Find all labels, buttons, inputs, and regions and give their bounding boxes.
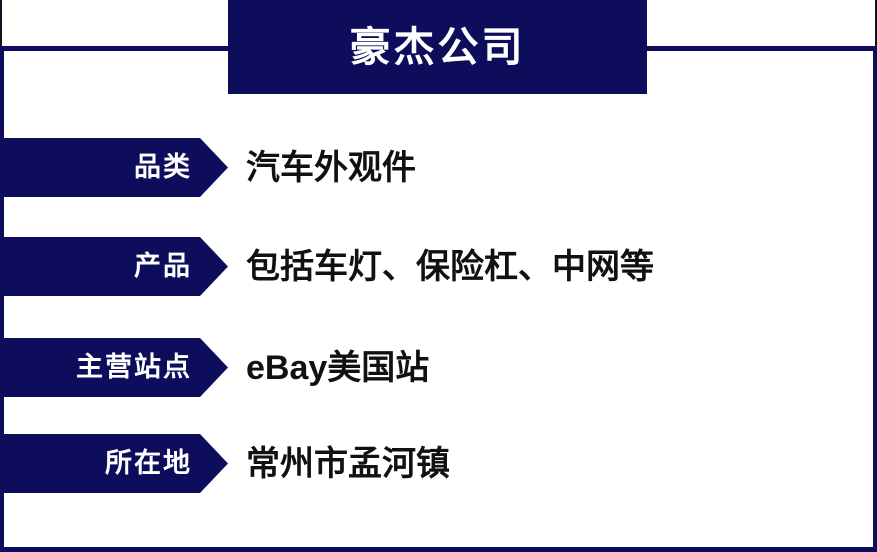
row-value-product: 包括车灯、保险杠、中网等 <box>246 237 654 296</box>
row-label-text: 品类 <box>134 154 192 181</box>
frame-top-right-rule <box>647 46 877 51</box>
row-value-text: 常州市孟河镇 <box>246 447 450 481</box>
title-banner: 豪杰公司 <box>228 0 647 94</box>
row-label-chevron-location: 所在地 <box>0 434 228 493</box>
row-value-location: 常州市孟河镇 <box>246 434 450 493</box>
row-value-main-site: eBay美国站 <box>246 338 429 397</box>
detail-row: 产品 包括车灯、保险杠、中网等 <box>0 237 877 296</box>
frame-top-left-rule <box>0 46 228 51</box>
row-label-text: 所在地 <box>105 450 192 477</box>
company-profile-infographic: 豪杰公司 品类 汽车外观件 产品 包括车灯、保险杠、中网等 主营站点 eBay美… <box>0 0 877 552</box>
row-label-text: 主营站点 <box>76 354 192 381</box>
row-label-chevron-main-site: 主营站点 <box>0 338 228 397</box>
row-label-chevron-product: 产品 <box>0 237 228 296</box>
row-value-text: 汽车外观件 <box>246 151 416 185</box>
row-value-text: eBay美国站 <box>246 351 429 385</box>
frame-bottom-rule <box>0 547 877 552</box>
detail-row: 主营站点 eBay美国站 <box>0 338 877 397</box>
frame-edge-left <box>0 0 2 47</box>
page-title: 豪杰公司 <box>350 27 526 68</box>
row-value-category: 汽车外观件 <box>246 138 416 197</box>
row-label-text: 产品 <box>134 253 192 280</box>
row-value-text: 包括车灯、保险杠、中网等 <box>246 250 654 284</box>
row-label-chevron-category: 品类 <box>0 138 228 197</box>
detail-row: 品类 汽车外观件 <box>0 138 877 197</box>
detail-row: 所在地 常州市孟河镇 <box>0 434 877 493</box>
